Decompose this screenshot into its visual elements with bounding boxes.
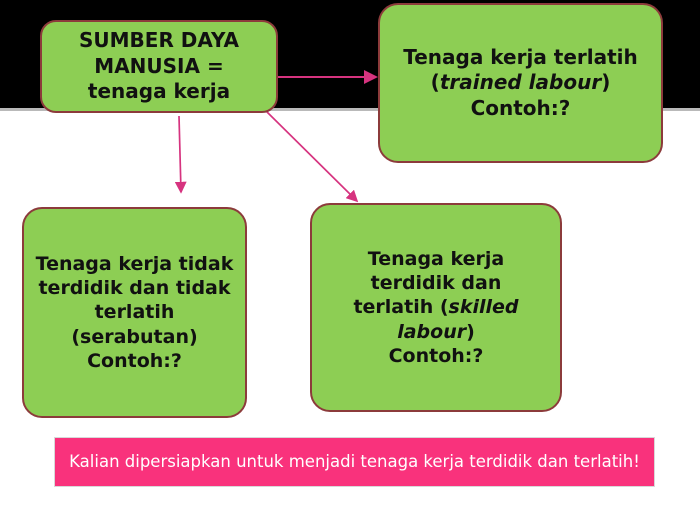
node-skilled-line-2: terdidik dan (371, 272, 502, 294)
node-skilled-italic-skilled: skilled (449, 296, 519, 318)
node-trained-text: Tenaga kerja terlatih (trained labour) C… (390, 45, 651, 122)
node-unskilled-line-3: terlatih (95, 301, 175, 323)
closing-banner: Kalian dipersiapkan untuk menjadi tenaga… (54, 437, 655, 487)
node-hr-text: SUMBER DAYA MANUSIA = tenaga kerja (52, 28, 266, 105)
node-trained-line-3: Contoh:? (471, 96, 571, 120)
slide-canvas: SUMBER DAYA MANUSIA = tenaga kerja Tenag… (0, 0, 700, 525)
node-unskilled-text: Tenaga kerja tidak terdidik dan tidak te… (34, 252, 235, 374)
node-trained-line-1: Tenaga kerja terlatih (403, 45, 638, 69)
node-hr-line-3: tenaga kerja (88, 79, 230, 103)
node-tenaga-kerja-terdidik-terlatih[interactable]: Tenaga kerja terdidik dan terlatih (skil… (310, 203, 562, 412)
node-unskilled-line-4: (serabutan) (71, 326, 197, 348)
node-tenaga-kerja-terlatih[interactable]: Tenaga kerja terlatih (trained labour) C… (378, 3, 663, 163)
node-hr-line-1: SUMBER DAYA (79, 28, 239, 52)
node-skilled-text: Tenaga kerja terdidik dan terlatih (skil… (322, 247, 550, 369)
node-sumber-daya-manusia[interactable]: SUMBER DAYA MANUSIA = tenaga kerja (40, 20, 278, 113)
node-trained-italic: trained labour (440, 70, 601, 94)
node-skilled-italic-labour: labour (397, 321, 466, 343)
node-skilled-line-3: terlatih ( (353, 296, 448, 318)
node-hr-line-2: MANUSIA = (94, 54, 223, 78)
node-skilled-line-1: Tenaga kerja (368, 248, 504, 270)
node-trained-paren-close: ) (601, 70, 610, 94)
closing-banner-text: Kalian dipersiapkan untuk menjadi tenaga… (63, 451, 646, 473)
node-skilled-line-5: Contoh:? (389, 345, 484, 367)
node-unskilled-line-5: Contoh:? (87, 350, 182, 372)
node-tenaga-kerja-tidak-terdidik[interactable]: Tenaga kerja tidak terdidik dan tidak te… (22, 207, 247, 418)
node-skilled-paren-close: ) (466, 321, 475, 343)
node-trained-paren-open: ( (431, 70, 440, 94)
node-unskilled-line-1: Tenaga kerja tidak (36, 253, 234, 275)
node-unskilled-line-2: terdidik dan tidak (38, 277, 230, 299)
